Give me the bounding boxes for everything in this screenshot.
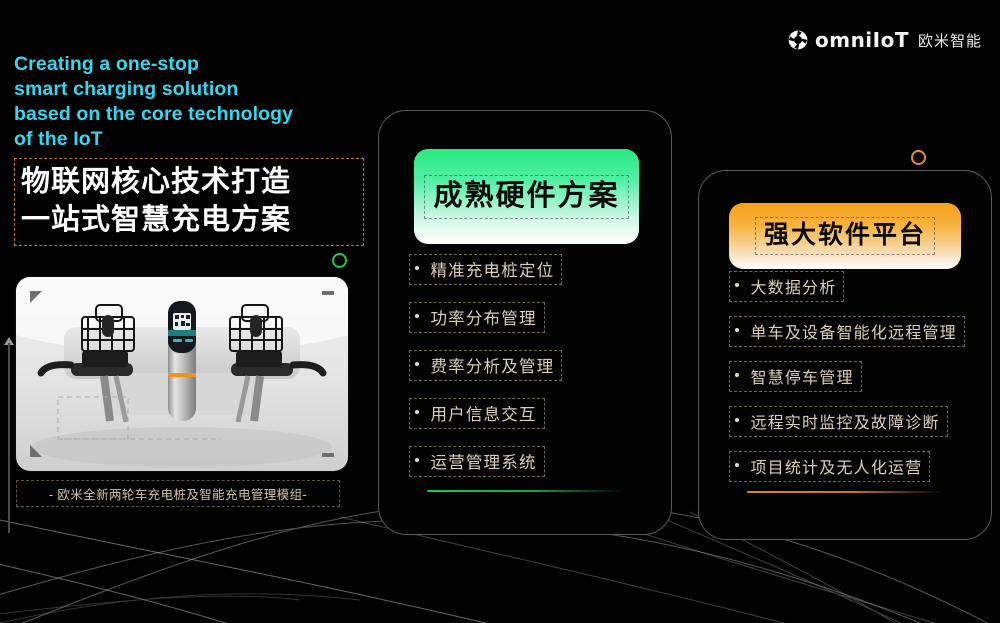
list-item[interactable]: 大数据分析 [729,271,965,316]
list-item-label: 功率分布管理 [430,310,536,328]
list-item[interactable]: 智慧停车管理 [729,361,965,406]
bullet-icon [415,362,419,366]
bullet-icon [415,410,419,414]
bullet-icon [735,418,739,422]
product-caption: - 欧米全新两轮车充电桩及智能充电管理模组- [21,484,335,503]
aperture-icon [788,30,808,50]
list-item-label: 用户信息交互 [430,406,536,424]
list-item-label: 项目统计及无人化运营 [750,460,922,477]
orange-ring-marker [911,150,926,165]
list-item[interactable]: 功率分布管理 [409,302,562,350]
headline-cn-line-2: 一站式智慧充电方案 [21,201,357,239]
list-item-label: 精准充电桩定位 [430,262,554,280]
card-software[interactable]: 强大软件平台 大数据分析 单车及设备智能化远程管理 智慧停车管理 远程实时监控及… [698,170,992,540]
bullet-icon [735,283,739,287]
green-ring-marker [332,253,347,268]
card-software-badge: 强大软件平台 [729,203,961,269]
card-hardware-list: 精准充电桩定位 功率分布管理 费率分析及管理 用户信息交互 运营管理系统 [409,254,562,494]
headline-en-line-1: Creating a one-stop [14,52,364,77]
list-item-label: 智慧停车管理 [750,370,853,387]
bullet-icon [415,314,419,318]
card-hardware-accent-line [427,490,622,492]
list-item[interactable]: 项目统计及无人化运营 [729,451,965,496]
list-item-label: 单车及设备智能化远程管理 [750,325,956,342]
card-software-accent-line [747,491,942,493]
list-item-label: 远程实时监控及故障诊断 [750,415,939,432]
card-software-badge-inner: 强大软件平台 [755,217,935,255]
bullet-icon [735,328,739,332]
bullet-icon [415,266,419,270]
list-item[interactable]: 单车及设备智能化远程管理 [729,316,965,361]
card-hardware-badge: 成熟硬件方案 [414,149,639,244]
list-item[interactable]: 运营管理系统 [409,446,562,494]
card-hardware[interactable]: 成熟硬件方案 精准充电桩定位 功率分布管理 费率分析及管理 用户信息交互 运营管… [378,110,672,535]
headline-block: Creating a one-stop smart charging solut… [14,52,364,246]
headline-en-line-3: based on the core technology [14,102,364,127]
brand-name: omniIoT [815,28,909,52]
list-item-label: 大数据分析 [750,280,836,297]
list-item[interactable]: 远程实时监控及故障诊断 [729,406,965,451]
vertical-axis-line [8,343,10,533]
card-software-badge-text: 强大软件平台 [764,221,926,249]
list-item-label: 费率分析及管理 [430,358,554,376]
list-item[interactable]: 费率分析及管理 [409,350,562,398]
product-photo [16,277,348,471]
bullet-icon [735,463,739,467]
headline-cn-line-1: 物联网核心技术打造 [21,163,357,201]
product-caption-box: - 欧米全新两轮车充电桩及智能充电管理模组- [16,480,340,507]
list-item-label: 运营管理系统 [430,454,536,472]
bullet-icon [415,458,419,462]
card-hardware-badge-inner: 成熟硬件方案 [424,175,628,219]
headline-en-line-2: smart charging solution [14,77,364,102]
card-hardware-badge-text: 成熟硬件方案 [433,180,619,212]
list-item[interactable]: 精准充电桩定位 [409,254,562,302]
brand-logo: omniIoT 欧米智能 [788,28,982,52]
list-item[interactable]: 用户信息交互 [409,398,562,446]
bullet-icon [735,373,739,377]
headline-english: Creating a one-stop smart charging solut… [14,52,364,152]
card-software-list: 大数据分析 单车及设备智能化远程管理 智慧停车管理 远程实时监控及故障诊断 项目… [729,271,965,496]
brand-name-cn: 欧米智能 [918,30,982,51]
headline-chinese-box: 物联网核心技术打造 一站式智慧充电方案 [14,158,364,246]
headline-en-line-4: of the IoT [14,127,364,152]
